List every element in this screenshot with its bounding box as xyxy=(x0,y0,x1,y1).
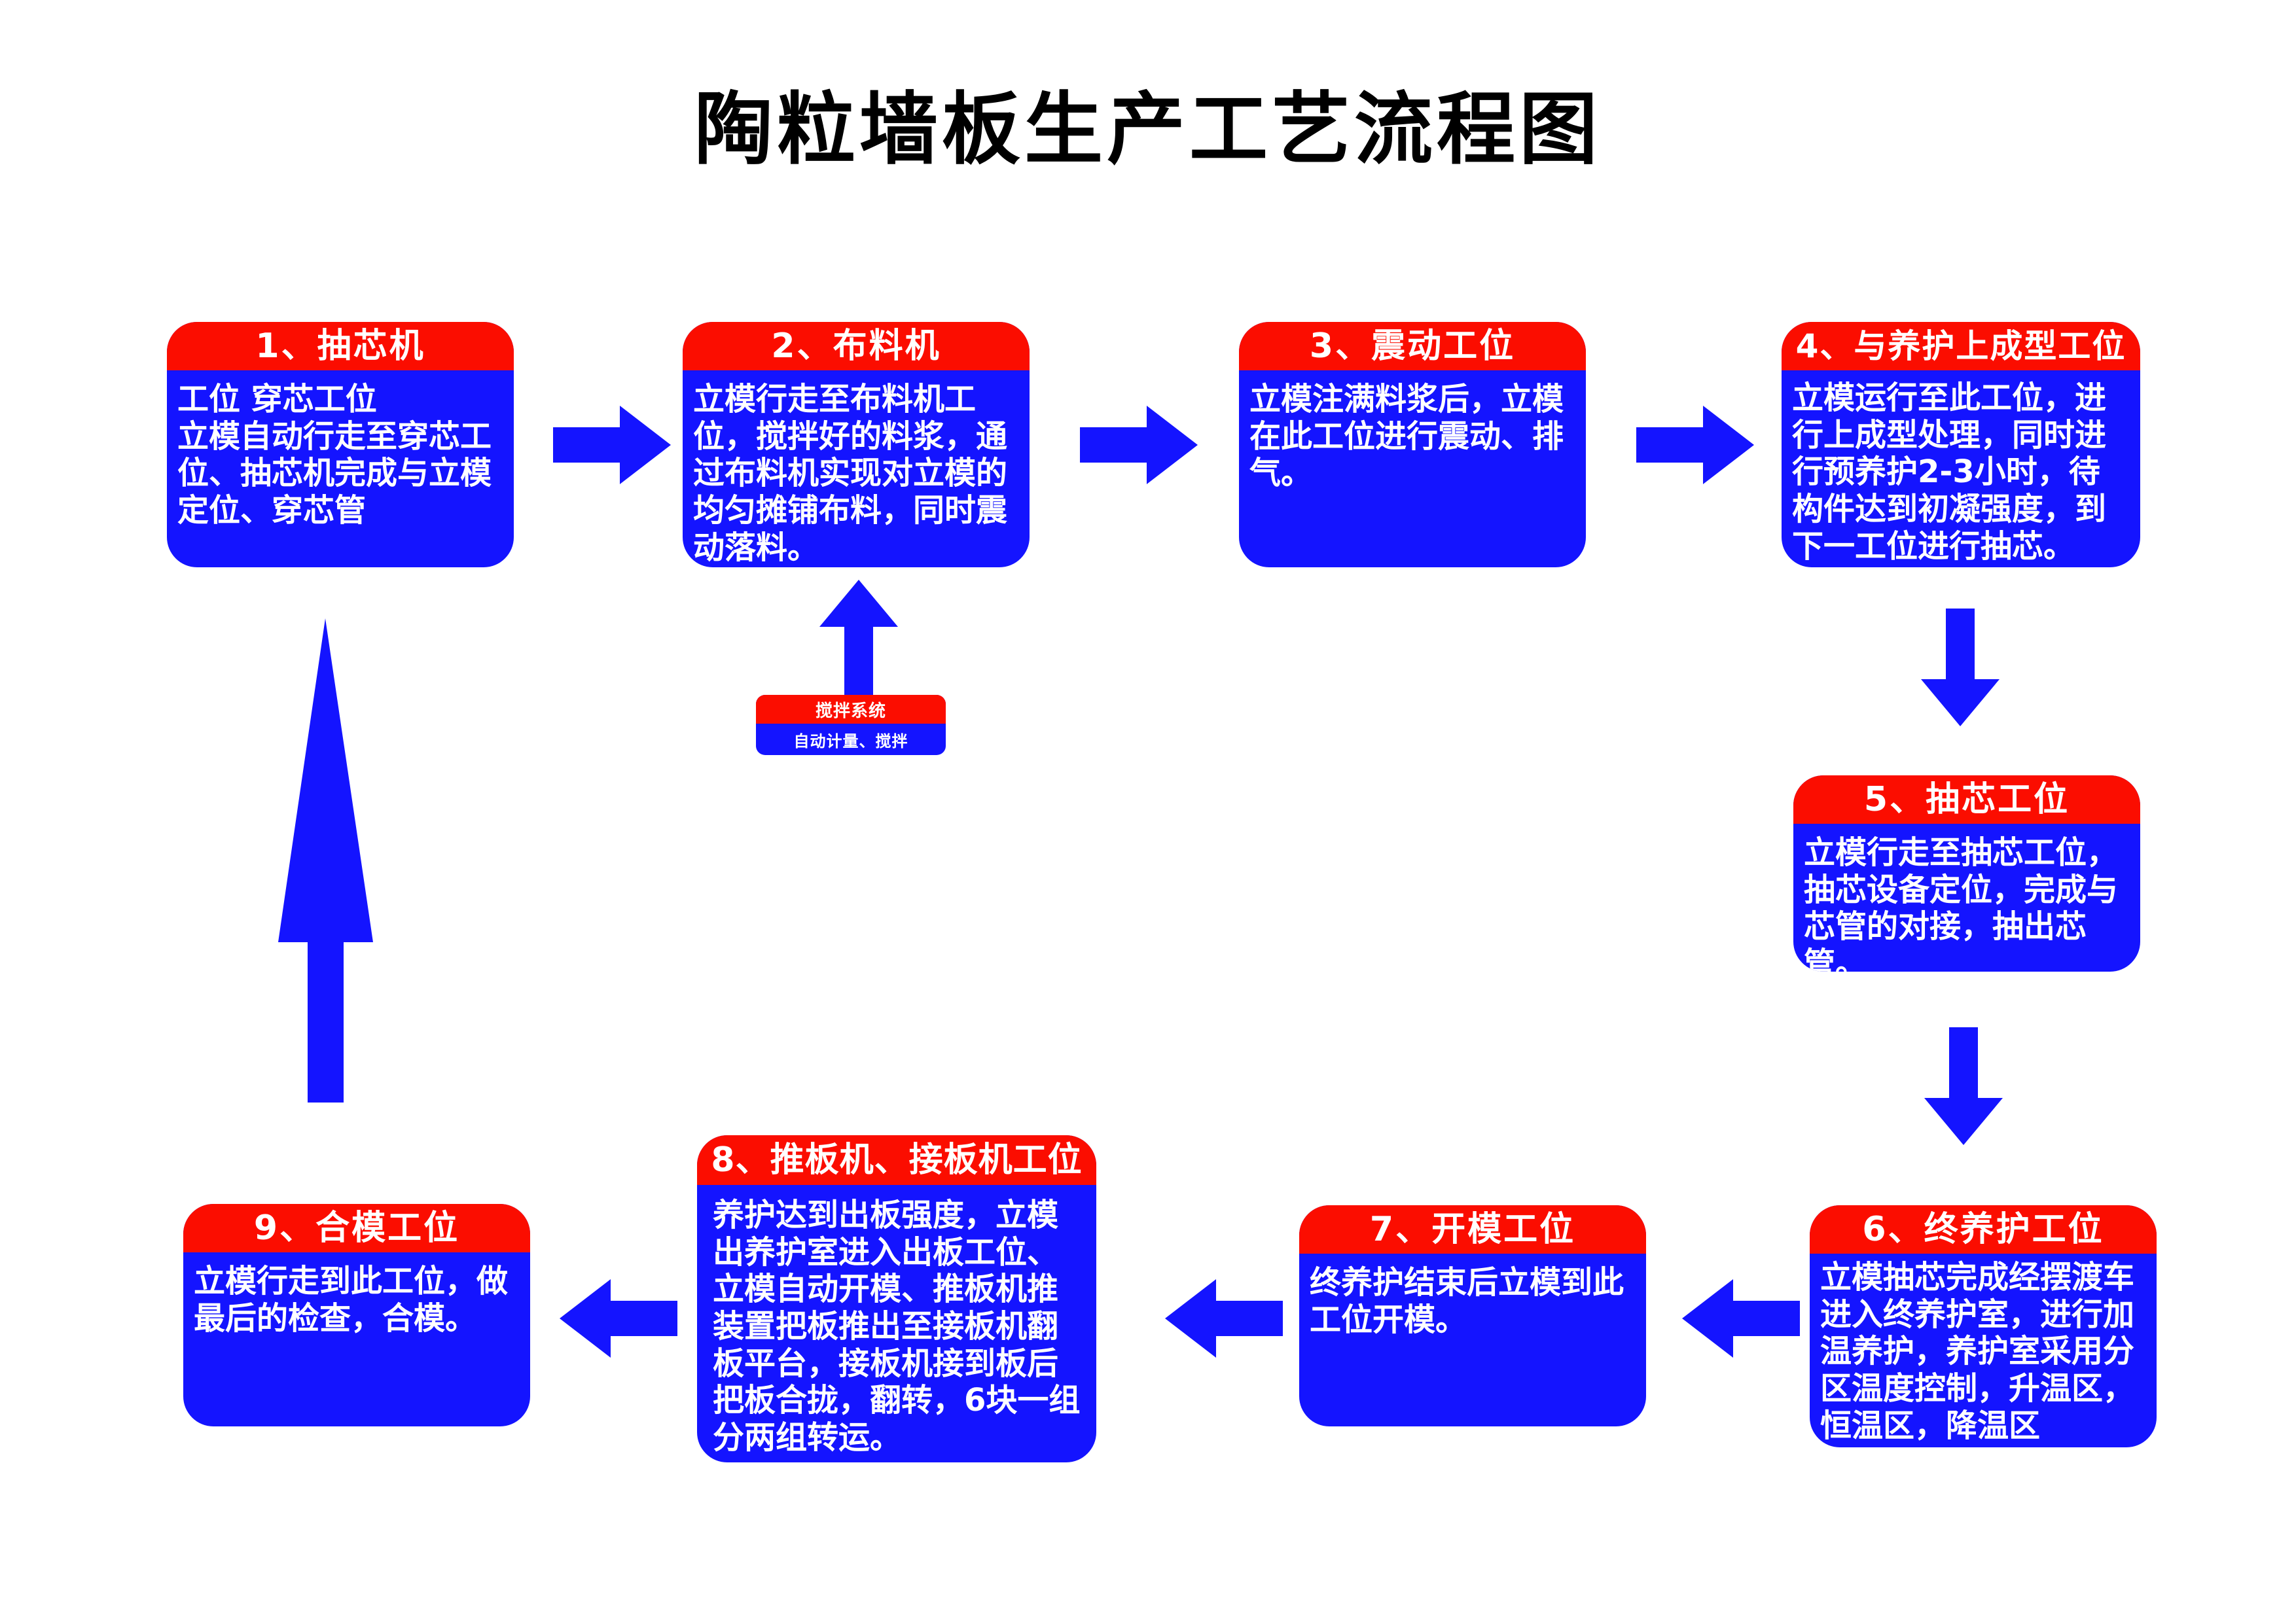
arrow-6-to-7 xyxy=(1682,1279,1800,1358)
process-node-1-body: 工位 穿芯工位 立模自动行走至穿芯工位、抽芯机完成与立模定位、穿芯管 xyxy=(167,370,514,567)
mixing-system-node[interactable]: 搅拌系统 自动计量、搅拌 xyxy=(756,695,946,755)
arrow-3-to-4 xyxy=(1636,406,1754,484)
process-node-4[interactable]: 4、与养护上成型工位 立模运行至此工位，进行上成型处理，同时进行预养护2-3小时… xyxy=(1782,322,2140,567)
process-node-8-header: 8、推板机、接板机工位 xyxy=(697,1135,1096,1185)
process-node-8-body: 养护达到出板强度，立模出养护室进入出板工位、立模自动开模、推板机推装置把板推出至… xyxy=(697,1185,1096,1462)
process-node-6-body: 立模抽芯完成经摆渡车进入终养护室，进行加温养护，养护室采用分区温度控制，升温区，… xyxy=(1810,1254,2157,1447)
arrow-mixer-to-2 xyxy=(819,580,898,697)
arrow-7-to-8 xyxy=(1165,1279,1283,1358)
arrow-8-to-9 xyxy=(560,1279,677,1358)
page-title: 陶粒墙板生产工艺流程图 xyxy=(0,65,2296,179)
arrow-1-to-2 xyxy=(553,406,671,484)
process-node-6-header: 6、终养护工位 xyxy=(1810,1205,2157,1254)
process-node-3-body: 立模注满料浆后，立模在此工位进行震动、排气。 xyxy=(1239,370,1586,567)
mixing-system-header: 搅拌系统 xyxy=(756,695,946,724)
process-node-3[interactable]: 3、震动工位 立模注满料浆后，立模在此工位进行震动、排气。 xyxy=(1239,322,1586,567)
process-node-2-body: 立模行走至布料机工位，搅拌好的料浆，通过布料机实现对立模的均匀摊铺布料，同时震动… xyxy=(683,370,1030,567)
process-node-3-header: 3、震动工位 xyxy=(1239,322,1586,370)
process-node-5[interactable]: 5、抽芯工位 立模行走至抽芯工位，抽芯设备定位，完成与芯管的对接，抽出芯管。 xyxy=(1793,775,2140,972)
process-node-4-header: 4、与养护上成型工位 xyxy=(1782,322,2140,370)
process-node-2[interactable]: 2、布料机 立模行走至布料机工位，搅拌好的料浆，通过布料机实现对立模的均匀摊铺布… xyxy=(683,322,1030,567)
process-node-9-header: 9、合模工位 xyxy=(183,1204,530,1252)
process-node-4-body: 立模运行至此工位，进行上成型处理，同时进行预养护2-3小时，待构件达到初凝强度，… xyxy=(1782,370,2140,567)
arrow-9-to-1 xyxy=(278,618,373,1103)
arrow-2-to-3 xyxy=(1080,406,1198,484)
process-node-7[interactable]: 7、开模工位 终养护结束后立模到此工位开模。 xyxy=(1299,1205,1646,1426)
flowchart-canvas: 陶粒墙板生产工艺流程图 1、抽芯机 工位 穿芯工位 立模自动行走至穿芯工位、抽芯… xyxy=(0,0,2296,1624)
process-node-7-header: 7、开模工位 xyxy=(1299,1205,1646,1254)
process-node-5-header: 5、抽芯工位 xyxy=(1793,775,2140,824)
process-node-1[interactable]: 1、抽芯机 工位 穿芯工位 立模自动行走至穿芯工位、抽芯机完成与立模定位、穿芯管 xyxy=(167,322,514,567)
arrow-4-to-5 xyxy=(1921,609,2000,726)
process-node-9[interactable]: 9、合模工位 立模行走到此工位，做最后的检查，合模。 xyxy=(183,1204,530,1426)
process-node-8[interactable]: 8、推板机、接板机工位 养护达到出板强度，立模出养护室进入出板工位、立模自动开模… xyxy=(697,1135,1096,1462)
process-node-1-header: 1、抽芯机 xyxy=(167,322,514,370)
mixing-system-body: 自动计量、搅拌 xyxy=(756,724,946,755)
process-node-6[interactable]: 6、终养护工位 立模抽芯完成经摆渡车进入终养护室，进行加温养护，养护室采用分区温… xyxy=(1810,1205,2157,1447)
arrow-5-to-6 xyxy=(1924,1027,2003,1145)
process-node-9-body: 立模行走到此工位，做最后的检查，合模。 xyxy=(183,1252,530,1426)
process-node-5-body: 立模行走至抽芯工位，抽芯设备定位，完成与芯管的对接，抽出芯管。 xyxy=(1793,824,2140,972)
process-node-2-header: 2、布料机 xyxy=(683,322,1030,370)
process-node-7-body: 终养护结束后立模到此工位开模。 xyxy=(1299,1254,1646,1426)
